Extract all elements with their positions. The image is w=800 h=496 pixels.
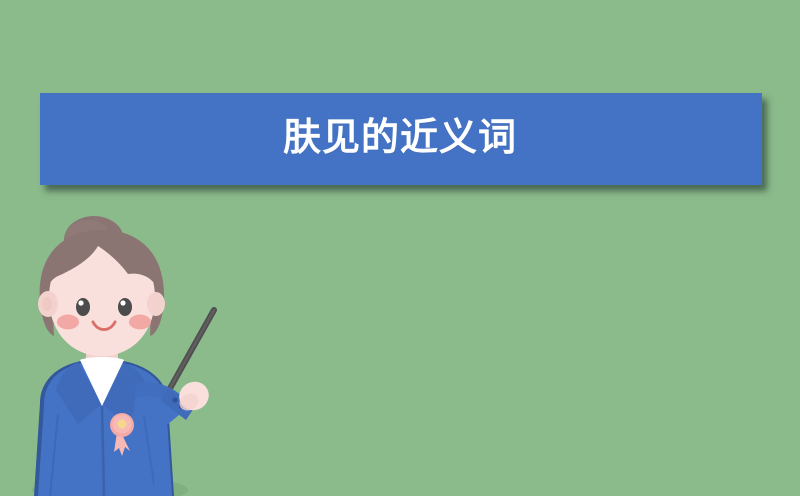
cuff-button-1	[172, 397, 177, 402]
blush-left	[57, 315, 79, 330]
eye-right	[118, 298, 132, 316]
ear-right	[147, 292, 165, 316]
blush-right	[129, 315, 151, 330]
teacher-svg	[18, 218, 248, 496]
eye-left-highlight	[78, 300, 83, 305]
badge-center	[118, 420, 127, 429]
pointer-stick	[168, 310, 214, 392]
title-banner: 肤见的近义词	[40, 93, 762, 185]
head	[38, 216, 165, 356]
slide-canvas: 肤见的近义词	[0, 0, 800, 496]
page-title: 肤见的近义词	[283, 119, 517, 159]
ear-left-inner	[42, 297, 52, 311]
eye-left	[76, 298, 90, 316]
eye-right-highlight	[120, 300, 125, 305]
teacher-illustration	[18, 218, 248, 496]
